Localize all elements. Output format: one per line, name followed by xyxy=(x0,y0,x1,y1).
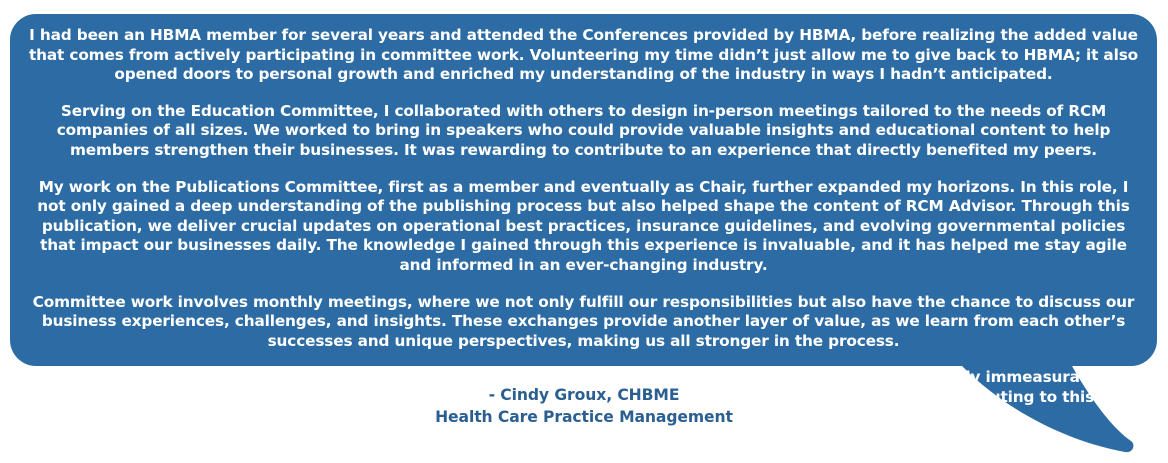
testimonial-card: I had been an HBMA member for several ye… xyxy=(0,0,1168,463)
quote-paragraph: I had been an HBMA member for several ye… xyxy=(24,26,1143,85)
quote-paragraph: Committee work involves monthly meetings… xyxy=(24,293,1143,352)
attribution: - Cindy Groux, CHBME Health Care Practic… xyxy=(0,384,1168,428)
attribution-organization: Health Care Practice Management xyxy=(0,406,1168,428)
quote-paragraph: Serving on the Education Committee, I co… xyxy=(24,102,1143,161)
quote-paragraph: My work on the Publications Committee, f… xyxy=(24,178,1143,276)
quote-body: I had been an HBMA member for several ye… xyxy=(10,14,1157,365)
attribution-author-name: - Cindy Groux, CHBME xyxy=(0,384,1168,406)
